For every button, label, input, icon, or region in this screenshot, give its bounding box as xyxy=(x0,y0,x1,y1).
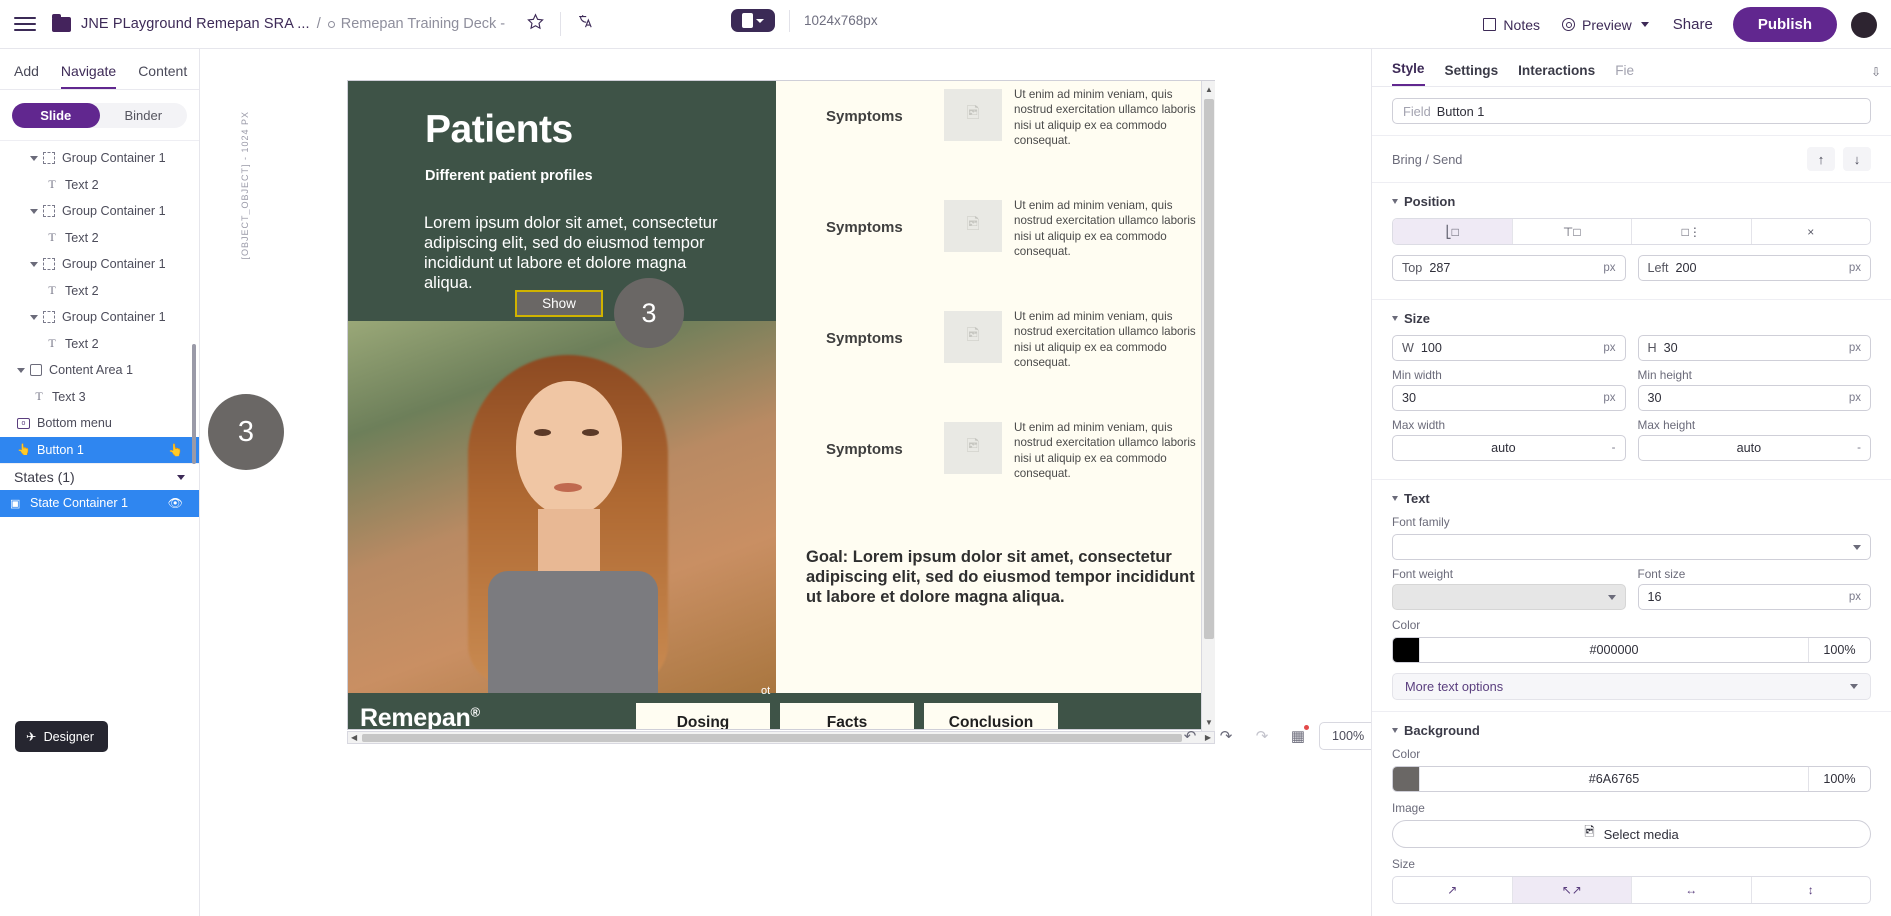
chevron-down-icon xyxy=(1392,316,1398,321)
font-size-input[interactable]: 16 px xyxy=(1638,584,1872,610)
overflow-text: ot xyxy=(761,685,770,697)
slide-body-text: Lorem ipsum dolor sit amet, consectetur … xyxy=(424,213,724,294)
chevron-down-icon xyxy=(1850,684,1858,689)
max-height-label: Max height xyxy=(1638,418,1872,432)
font-family-select[interactable] xyxy=(1392,534,1871,560)
more-text-options-button[interactable]: More text options xyxy=(1392,673,1871,700)
canvas-toolbar: ↶ ↷ ↷ ▦ 100% xyxy=(1175,721,1377,751)
tree-item-group-container[interactable]: Group Container 1 xyxy=(0,304,199,331)
min-width-label: Min width xyxy=(1392,368,1626,382)
group-icon xyxy=(43,258,55,270)
symptom-row: Symptoms 🖻 Ut enim ad minim veniam, quis… xyxy=(776,192,1203,280)
photo-shirt xyxy=(488,571,658,693)
show-button[interactable]: Show xyxy=(515,290,603,317)
select-media-button[interactable]: 🖻 Select media xyxy=(1392,820,1871,848)
tree-item-bottom-menu[interactable]: o Bottom menu xyxy=(0,410,199,437)
w-value: 100 xyxy=(1421,341,1596,355)
max-height-input[interactable]: auto - xyxy=(1638,435,1872,461)
field-section: Field Button 1 xyxy=(1372,87,1891,136)
text-title: Text xyxy=(1404,491,1430,506)
states-label: States (1) xyxy=(14,469,75,485)
symptom-label: Symptoms xyxy=(826,219,903,236)
max-height-value: auto xyxy=(1648,441,1851,455)
chevron-down-icon xyxy=(1392,199,1398,204)
bottom-menu-icon: o xyxy=(17,418,30,429)
photo-eye-left xyxy=(534,429,551,436)
h-unit: px xyxy=(1849,342,1861,354)
placeholder-image-icon: 🖻 xyxy=(944,89,1002,141)
slide-content: Patients Different patient profiles Lore… xyxy=(348,81,1203,729)
state-container-label: State Container 1 xyxy=(30,496,128,510)
background-color-swatch[interactable] xyxy=(1393,767,1419,791)
symptom-text: Ut enim ad minim veniam, quis nostrud ex… xyxy=(1014,420,1196,481)
size-contain-icon[interactable]: ↗ xyxy=(1393,877,1513,903)
resolution-label: 1024x768px xyxy=(804,13,878,28)
brand-name: Remepan® xyxy=(360,704,480,729)
position-section: Position ⎣□ ⊤□ □⋮ × Top 287 px Left 200 … xyxy=(1372,183,1891,300)
undo-icon[interactable]: ↶ xyxy=(1175,721,1205,751)
tree-item-text[interactable]: T Text 2 xyxy=(0,172,199,199)
tab-interactions[interactable]: Interactions xyxy=(1518,63,1595,86)
size-width-icon[interactable]: ↔ xyxy=(1632,877,1752,903)
select-media-label: Select media xyxy=(1604,827,1679,842)
text-icon: T xyxy=(46,283,58,298)
patient-photo xyxy=(348,321,776,693)
slide-bottom-bar: Remepan® dagapiflozin Dosing Facts Concl… xyxy=(348,693,1203,729)
photo-lips xyxy=(554,483,582,492)
divider xyxy=(789,10,790,32)
field-value: Button 1 xyxy=(1437,104,1485,119)
badge-number-large: 3 xyxy=(208,394,284,470)
chevron-down-icon xyxy=(756,19,764,23)
tree-item-group-container[interactable]: Group Container 1 xyxy=(0,198,199,225)
w-unit: px xyxy=(1603,342,1615,354)
goal-text: Goal: Lorem ipsum dolor sit amet, consec… xyxy=(806,547,1203,607)
brand-label: Remepan xyxy=(360,704,470,729)
h-value: 30 xyxy=(1664,341,1842,355)
size-header[interactable]: Size xyxy=(1392,311,1871,326)
chevron-down-icon[interactable] xyxy=(30,315,38,320)
segment-slide[interactable]: Slide xyxy=(12,103,100,128)
symptom-row: Symptoms 🖻 Ut enim ad minim veniam, quis… xyxy=(776,81,1203,169)
slide-vertical-scrollbar[interactable]: ▲ ▼ xyxy=(1201,81,1215,731)
text-header[interactable]: Text xyxy=(1392,491,1871,506)
position-top-center-icon[interactable]: ⊤□ xyxy=(1513,219,1633,244)
tree-item-label: Text 2 xyxy=(65,231,99,245)
segment-binder[interactable]: Binder xyxy=(100,103,188,128)
text-color-swatch[interactable] xyxy=(1393,638,1419,662)
chevron-down-icon xyxy=(1853,545,1861,550)
text-icon: T xyxy=(46,336,58,351)
tree-item-label: Group Container 1 xyxy=(62,310,166,324)
photo-face xyxy=(516,381,622,516)
position-top-input[interactable]: Top 287 px xyxy=(1392,255,1626,281)
min-height-unit: px xyxy=(1849,392,1861,404)
notes-label: Notes xyxy=(1503,17,1540,33)
reset-icon[interactable]: ↷ xyxy=(1247,721,1277,751)
width-input[interactable]: W 100 px xyxy=(1392,335,1626,361)
tree-item-label: Group Container 1 xyxy=(62,204,166,218)
slide-title: Patients xyxy=(425,108,573,152)
max-width-input[interactable]: auto - xyxy=(1392,435,1626,461)
text-icon: T xyxy=(46,177,58,192)
tree-item-label: Group Container 1 xyxy=(62,257,166,271)
chevron-down-icon[interactable] xyxy=(30,262,38,267)
max-width-label: Max width xyxy=(1392,418,1626,432)
placeholder-image-icon: 🖻 xyxy=(944,200,1002,252)
breadcrumb-project[interactable]: JNE PLayground Remepan SRA ... xyxy=(81,16,310,32)
font-weight-select[interactable] xyxy=(1392,584,1626,610)
slide-horizontal-scrollbar[interactable]: ◀ ▶ xyxy=(347,731,1215,744)
min-width-unit: px xyxy=(1603,392,1615,404)
chevron-down-icon[interactable] xyxy=(177,475,185,480)
translate-icon[interactable] xyxy=(577,13,594,35)
states-header[interactable]: States (1) xyxy=(0,463,199,490)
publish-button[interactable]: Publish xyxy=(1733,7,1837,42)
font-size-value: 16 xyxy=(1648,590,1842,604)
top-value: 287 xyxy=(1429,261,1596,275)
background-size-label: Size xyxy=(1392,857,1871,871)
chevron-down-icon xyxy=(1641,22,1649,27)
chevron-down-icon[interactable] xyxy=(30,156,38,161)
right-panel: Style Settings Interactions Fie ⇩ Field … xyxy=(1371,49,1891,916)
tree-item-text[interactable]: T Text 2 xyxy=(0,225,199,252)
font-size-unit: px xyxy=(1849,591,1861,603)
topbar-actions: Notes Preview Share Publish xyxy=(1483,0,1877,49)
tree-item-group-container[interactable]: Group Container 1 xyxy=(0,145,199,172)
tree-item-content-area[interactable]: Content Area 1 xyxy=(0,357,199,384)
breadcrumb-separator: / xyxy=(317,16,321,32)
nav-tab-dosing[interactable]: Dosing xyxy=(636,703,770,729)
background-header[interactable]: Background xyxy=(1392,723,1871,738)
slide-canvas[interactable]: Patients Different patient profiles Lore… xyxy=(347,80,1215,730)
device-selector[interactable] xyxy=(731,9,775,32)
field-label: Field xyxy=(1403,104,1431,119)
placeholder-image-icon: 🖻 xyxy=(944,422,1002,474)
slide-left-column: Patients Different patient profiles Lore… xyxy=(348,81,776,693)
nav-tab-facts[interactable]: Facts xyxy=(780,703,914,729)
max-height-unit: - xyxy=(1857,442,1861,454)
font-weight-label: Font weight xyxy=(1392,567,1626,581)
symptom-label: Symptoms xyxy=(826,108,903,125)
designer-button[interactable]: ✈ Designer xyxy=(15,721,108,752)
max-width-unit: - xyxy=(1612,442,1616,454)
phone-icon xyxy=(742,13,753,28)
symptom-text: Ut enim ad minim veniam, quis nostrud ex… xyxy=(1014,198,1196,259)
background-color-alpha: 100% xyxy=(1808,767,1870,791)
tree-item-group-container[interactable]: Group Container 1 xyxy=(0,251,199,278)
symptom-row: Symptoms 🖻 Ut enim ad minim veniam, quis… xyxy=(776,414,1203,502)
text-color-value: #000000 xyxy=(1419,638,1808,662)
placeholder-image-icon: 🖻 xyxy=(944,311,1002,363)
chevron-down-icon xyxy=(1392,728,1398,733)
w-key: W xyxy=(1402,341,1414,355)
max-width-value: auto xyxy=(1402,441,1605,455)
layer-tree: Group Container 1 T Text 2 Group Contain… xyxy=(0,140,199,463)
font-size-label: Font size xyxy=(1638,567,1872,581)
min-height-value: 30 xyxy=(1648,391,1842,405)
slide-subtitle: Different patient profiles xyxy=(425,168,593,184)
scroll-left-icon[interactable]: ◀ xyxy=(351,733,357,742)
preview-icon xyxy=(1562,18,1575,31)
top-unit: px xyxy=(1603,262,1615,274)
tree-item-text[interactable]: T Text 2 xyxy=(0,331,199,358)
preview-button[interactable]: Preview xyxy=(1562,17,1649,33)
size-height-icon[interactable]: ↕ xyxy=(1752,877,1871,903)
tree-item-label: Text 2 xyxy=(65,284,99,298)
slide-right-column: Symptoms 🖻 Ut enim ad minim veniam, quis… xyxy=(776,81,1203,693)
left-panel: Add Navigate Content Slide Binder Group … xyxy=(0,49,200,916)
hamburger-icon[interactable] xyxy=(14,13,36,35)
size-title: Size xyxy=(1404,311,1430,326)
background-title: Background xyxy=(1404,723,1480,738)
redo-icon[interactable]: ↷ xyxy=(1211,721,1241,751)
more-text-options-label: More text options xyxy=(1405,679,1503,694)
left-panel-tabs: Add Navigate Content xyxy=(0,49,199,90)
chevron-down-icon[interactable] xyxy=(17,368,25,373)
tab-content[interactable]: Content xyxy=(138,63,187,89)
button-icon: 👆 xyxy=(17,443,30,456)
tab-navigate[interactable]: Navigate xyxy=(61,63,116,89)
tab-fields[interactable]: Fie xyxy=(1615,63,1634,86)
photo-neck xyxy=(538,509,600,579)
symptom-text: Ut enim ad minim veniam, quis nostrud ex… xyxy=(1014,309,1196,370)
state-container-item[interactable]: ▣ State Container 1 👁 xyxy=(0,490,199,517)
symptom-text: Ut enim ad minim veniam, quis nostrud ex… xyxy=(1014,87,1196,148)
tree-item-label: Bottom menu xyxy=(37,416,112,430)
tree-item-button-1[interactable]: 👆 Button 1 👆 xyxy=(0,437,199,464)
arrow-up-icon[interactable]: ↑ xyxy=(1807,147,1835,171)
size-cover-icon[interactable]: ↖↗ xyxy=(1513,877,1633,903)
text-color-alpha: 100% xyxy=(1808,638,1870,662)
chevron-down-icon xyxy=(1392,496,1398,501)
brand-registered: ® xyxy=(470,705,479,720)
left-unit: px xyxy=(1849,262,1861,274)
tab-style[interactable]: Style xyxy=(1392,61,1425,86)
height-input[interactable]: H 30 px xyxy=(1638,335,1872,361)
pointer-icon[interactable]: 👆 xyxy=(168,443,183,457)
tab-settings[interactable]: Settings xyxy=(1445,63,1499,86)
h-key: H xyxy=(1648,341,1657,355)
avatar[interactable] xyxy=(1851,12,1877,38)
zoom-level[interactable]: 100% xyxy=(1319,722,1377,750)
chevron-down-icon xyxy=(1608,595,1616,600)
media-icon: 🖻 xyxy=(1584,823,1594,845)
text-icon: T xyxy=(46,230,58,245)
text-icon: T xyxy=(33,389,45,404)
text-color-label: Color xyxy=(1392,618,1871,632)
position-title: Position xyxy=(1404,194,1455,209)
bring-send-section: Bring / Send ↑ ↓ xyxy=(1372,136,1891,183)
background-section: Background Color #6A6765 100% Image 🖻 Se… xyxy=(1372,712,1891,916)
min-width-value: 30 xyxy=(1402,391,1596,405)
slide-binder-toggle: Slide Binder xyxy=(12,103,187,128)
position-mode-tabs: ⎣□ ⊤□ □⋮ × xyxy=(1392,218,1871,245)
background-color-row[interactable]: #6A6765 100% xyxy=(1392,766,1871,792)
right-panel-tabs: Style Settings Interactions Fie ⇩ xyxy=(1372,49,1891,87)
star-icon[interactable] xyxy=(527,13,544,35)
breadcrumb-deck-label: Remepan Training Deck - xyxy=(341,16,505,32)
min-height-input[interactable]: 30 px xyxy=(1638,385,1872,411)
group-icon xyxy=(43,152,55,164)
group-icon xyxy=(43,205,55,217)
tree-item-label: Group Container 1 xyxy=(62,151,166,165)
font-family-label: Font family xyxy=(1392,515,1871,529)
left-value: 200 xyxy=(1676,261,1842,275)
background-color-value: #6A6765 xyxy=(1419,767,1808,791)
panel-icon[interactable]: ▦ xyxy=(1283,721,1313,751)
top-key: Top xyxy=(1402,261,1422,275)
nav-tab-conclusion[interactable]: Conclusion xyxy=(924,703,1058,729)
tab-add[interactable]: Add xyxy=(14,63,39,89)
left-panel-scrollbar[interactable] xyxy=(192,344,196,464)
folder-icon xyxy=(52,17,71,32)
min-width-input[interactable]: 30 px xyxy=(1392,385,1626,411)
tree-item-label: Button 1 xyxy=(37,443,84,457)
position-top-left-icon[interactable]: ⎣□ xyxy=(1393,219,1513,244)
symptom-label: Symptoms xyxy=(826,441,903,458)
notes-button[interactable]: Notes xyxy=(1483,17,1540,33)
photo-eye-right xyxy=(582,429,599,436)
background-color-label: Color xyxy=(1392,747,1871,761)
background-image-label: Image xyxy=(1392,801,1871,815)
tree-item-label: Text 3 xyxy=(52,390,86,404)
position-left-input[interactable]: Left 200 px xyxy=(1638,255,1872,281)
circle-icon xyxy=(328,21,335,28)
canvas-area: [OBJECT_OBJECT] - 1024 PX Patients Diffe… xyxy=(200,49,1371,916)
device-selector-group: 1024x768px xyxy=(731,9,878,32)
divider xyxy=(560,12,561,36)
tree-item-label: Text 2 xyxy=(65,178,99,192)
tree-item-text[interactable]: T Text 2 xyxy=(0,278,199,305)
bring-send-label: Bring / Send xyxy=(1392,152,1462,167)
position-top-right-icon[interactable]: □⋮ xyxy=(1632,219,1752,244)
arrow-down-icon[interactable]: ↓ xyxy=(1843,147,1871,171)
group-icon xyxy=(43,311,55,323)
app-root: JNE PLayground Remepan SRA ... / Remepan… xyxy=(0,0,1891,916)
text-color-row[interactable]: #000000 100% xyxy=(1392,637,1871,663)
field-input[interactable]: Field Button 1 xyxy=(1392,98,1871,124)
symptom-row: Symptoms 🖻 Ut enim ad minim veniam, quis… xyxy=(776,303,1203,391)
position-none-icon[interactable]: × xyxy=(1752,219,1871,244)
preview-label: Preview xyxy=(1582,17,1632,33)
scroll-thumb-h[interactable] xyxy=(362,734,1182,742)
chevrons-down-icon[interactable]: ⇩ xyxy=(1871,65,1881,79)
eye-icon[interactable]: 👁 xyxy=(168,496,183,510)
notes-icon xyxy=(1483,18,1496,31)
min-height-label: Min height xyxy=(1638,368,1872,382)
tree-item-label: Content Area 1 xyxy=(49,363,133,377)
share-button[interactable]: Share xyxy=(1673,16,1713,33)
designer-label: Designer xyxy=(44,730,94,744)
designer-icon: ✈ xyxy=(26,729,37,744)
badge-number-small: 3 xyxy=(614,278,684,348)
text-section: Text Font family Font weight Font size 1… xyxy=(1372,480,1891,712)
chevron-down-icon[interactable] xyxy=(30,209,38,214)
background-size-tabs: ↗ ↖↗ ↔ ↕ xyxy=(1392,876,1871,904)
ruler-label: [OBJECT_OBJECT] - 1024 PX xyxy=(240,111,250,260)
tree-item-text-3[interactable]: T Text 3 xyxy=(0,384,199,411)
state-icon: ▣ xyxy=(10,497,23,510)
symptom-label: Symptoms xyxy=(826,330,903,347)
tree-item-label: Text 2 xyxy=(65,337,99,351)
breadcrumb-deck[interactable]: Remepan Training Deck - xyxy=(328,16,505,32)
top-bar: JNE PLayground Remepan SRA ... / Remepan… xyxy=(0,0,1891,49)
size-section: Size W 100 px H 30 px Min width Min heig… xyxy=(1372,300,1891,480)
scroll-thumb[interactable] xyxy=(1204,99,1214,639)
left-key: Left xyxy=(1648,261,1669,275)
scroll-up-icon[interactable]: ▲ xyxy=(1205,85,1213,94)
content-area-icon xyxy=(30,364,42,376)
position-header[interactable]: Position xyxy=(1392,194,1871,209)
